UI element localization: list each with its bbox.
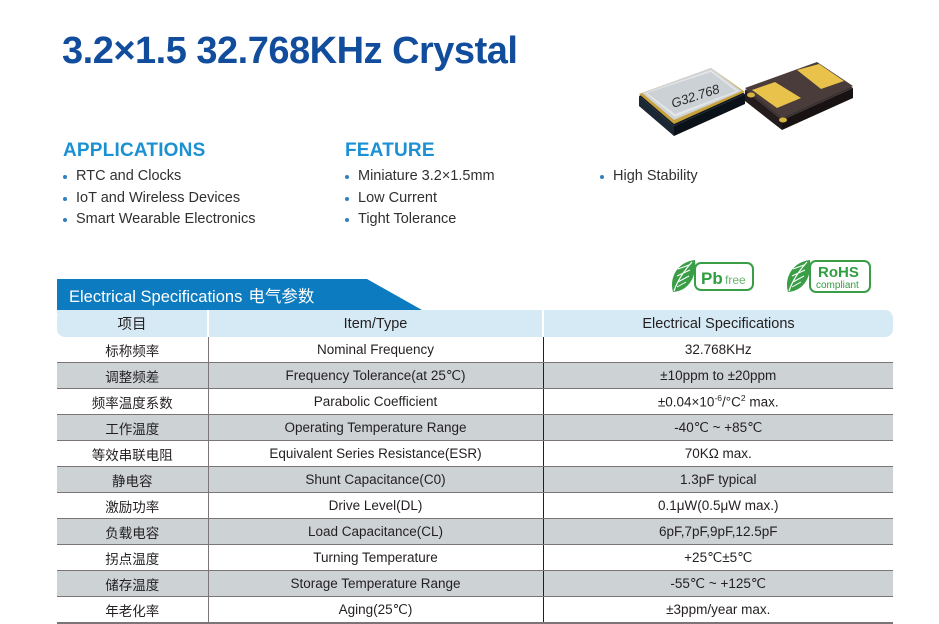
product-photo: G32.768 xyxy=(625,48,870,148)
table-row: 工作温度Operating Temperature Range-40℃ ~ +8… xyxy=(57,415,893,441)
cell-spec: +25℃±5℃ xyxy=(543,545,893,571)
cell-spec: 70KΩ max. xyxy=(543,441,893,467)
cell-spec: -55℃ ~ +125℃ xyxy=(543,571,893,597)
feature-extra-list: High Stability xyxy=(600,166,698,188)
cell-item: 年老化率 xyxy=(57,597,208,624)
cell-item: 调整频差 xyxy=(57,363,208,389)
spec-banner-title-en: Electrical Specifications xyxy=(69,288,242,306)
cell-type: Frequency Tolerance(at 25℃) xyxy=(208,363,543,389)
cell-type: Operating Temperature Range xyxy=(208,415,543,441)
cell-type: Turning Temperature xyxy=(208,545,543,571)
crystal-package-bottom-view xyxy=(745,62,853,130)
cell-spec: ±3ppm/year max. xyxy=(543,597,893,624)
cell-type: Drive Level(DL) xyxy=(208,493,543,519)
list-item: IoT and Wireless Devices xyxy=(63,188,255,210)
table-row: 拐点温度Turning Temperature+25℃±5℃ xyxy=(57,545,893,571)
table-row: 标称频率Nominal Frequency32.768KHz xyxy=(57,337,893,363)
cell-item: 等效串联电阻 xyxy=(57,441,208,467)
spec-banner-text: Electrical Specifications电气参数 xyxy=(69,283,314,307)
feature-list: Miniature 3.2×1.5mm Low Current Tight To… xyxy=(345,166,495,231)
column-header-item: 项目 xyxy=(57,310,208,337)
cell-type: Load Capacitance(CL) xyxy=(208,519,543,545)
cell-spec: ±0.04×10-6/°C2 max. xyxy=(543,389,893,415)
cell-type: Aging(25℃) xyxy=(208,597,543,624)
table-row: 储存温度Storage Temperature Range-55℃ ~ +125… xyxy=(57,571,893,597)
cell-item: 工作温度 xyxy=(57,415,208,441)
electrical-specifications-table: 项目 Item/Type Electrical Specifications 标… xyxy=(57,310,893,624)
cell-spec: ±10ppm to ±20ppm xyxy=(543,363,893,389)
cell-item: 负载电容 xyxy=(57,519,208,545)
cell-type: Equivalent Series Resistance(ESR) xyxy=(208,441,543,467)
table-header-row: 项目 Item/Type Electrical Specifications xyxy=(57,310,893,337)
cell-item: 拐点温度 xyxy=(57,545,208,571)
applications-heading: APPLICATIONS xyxy=(63,140,205,162)
cell-item: 激励功率 xyxy=(57,493,208,519)
spec-banner-title-cn: 电气参数 xyxy=(248,288,314,306)
cell-item: 频率温度系数 xyxy=(57,389,208,415)
cell-type: Nominal Frequency xyxy=(208,337,543,363)
table-row: 等效串联电阻Equivalent Series Resistance(ESR)7… xyxy=(57,441,893,467)
list-item: Smart Wearable Electronics xyxy=(63,209,255,231)
column-header-type: Item/Type xyxy=(208,310,543,337)
list-item: High Stability xyxy=(600,166,698,188)
column-header-spec: Electrical Specifications xyxy=(543,310,893,337)
cell-spec: -40℃ ~ +85℃ xyxy=(543,415,893,441)
table-row: 静电容Shunt Capacitance(C0)1.3pF typical xyxy=(57,467,893,493)
cell-type: Storage Temperature Range xyxy=(208,571,543,597)
feature-heading: FEATURE xyxy=(345,140,435,162)
table-row: 激励功率Drive Level(DL)0.1μW(0.5μW max.) xyxy=(57,493,893,519)
table-body: 标称频率Nominal Frequency32.768KHz调整频差Freque… xyxy=(57,337,893,623)
table-row: 负载电容Load Capacitance(CL)6pF,7pF,9pF,12.5… xyxy=(57,519,893,545)
cell-type: Parabolic Coefficient xyxy=(208,389,543,415)
cell-type: Shunt Capacitance(C0) xyxy=(208,467,543,493)
table-row: 频率温度系数Parabolic Coefficient±0.04×10-6/°C… xyxy=(57,389,893,415)
table-row: 调整频差Frequency Tolerance(at 25℃)±10ppm to… xyxy=(57,363,893,389)
cell-spec: 32.768KHz xyxy=(543,337,893,363)
cell-spec: 6pF,7pF,9pF,12.5pF xyxy=(543,519,893,545)
spec-banner-tail xyxy=(367,279,422,310)
list-item: Low Current xyxy=(345,188,495,210)
table-row: 年老化率Aging(25℃)±3ppm/year max. xyxy=(57,597,893,624)
list-item: Miniature 3.2×1.5mm xyxy=(345,166,495,188)
cell-item: 储存温度 xyxy=(57,571,208,597)
list-item: Tight Tolerance xyxy=(345,209,495,231)
cell-spec: 1.3pF typical xyxy=(543,467,893,493)
list-item: RTC and Clocks xyxy=(63,166,255,188)
cell-spec: 0.1μW(0.5μW max.) xyxy=(543,493,893,519)
applications-list: RTC and Clocks IoT and Wireless Devices … xyxy=(63,166,255,231)
spec-banner: Electrical Specifications电气参数 xyxy=(57,279,865,310)
page-title: 3.2×1.5 32.768KHz Crystal xyxy=(62,30,517,73)
crystal-package-top-view: G32.768 xyxy=(639,68,745,136)
cell-item: 静电容 xyxy=(57,467,208,493)
cell-item: 标称频率 xyxy=(57,337,208,363)
